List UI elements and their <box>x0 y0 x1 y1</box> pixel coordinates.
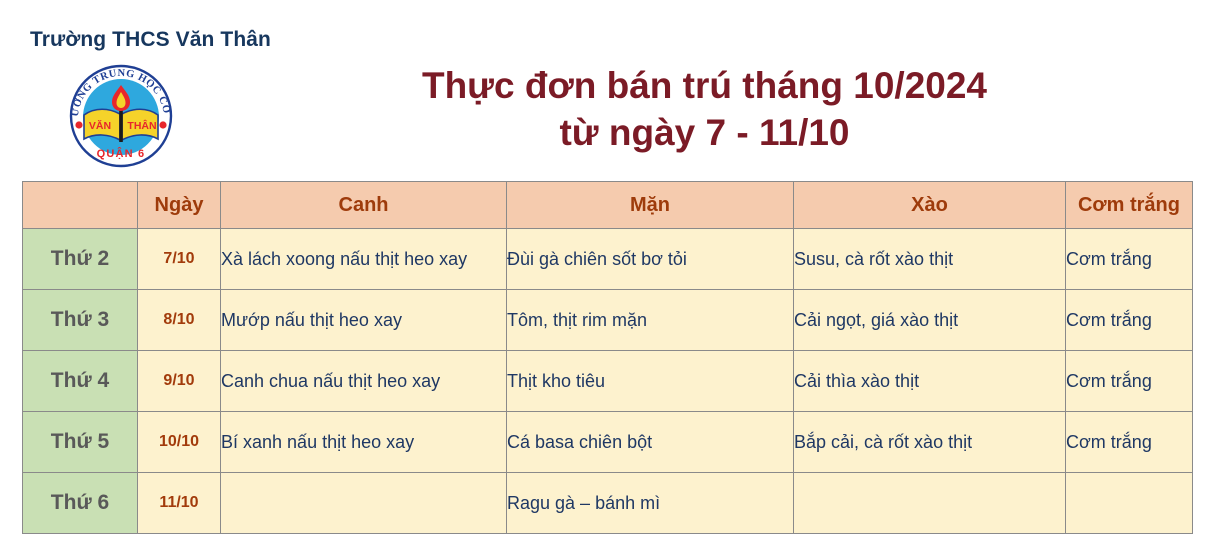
dish-com: Cơm trắng <box>1066 412 1193 473</box>
table-row: Thứ 5 10/10 Bí xanh nấu thịt heo xay Cá … <box>23 412 1193 473</box>
day-label: Thứ 2 <box>23 229 138 290</box>
svg-text:VĂN: VĂN <box>89 119 111 132</box>
day-label: Thứ 5 <box>23 412 138 473</box>
date-label: 10/10 <box>138 412 221 473</box>
dish-canh: Mướp nấu thịt heo xay <box>221 290 507 351</box>
title-line-2: từ ngày 7 - 11/10 <box>190 109 1219 156</box>
dish-man: Cá basa chiên bột <box>507 412 794 473</box>
dish-com: Cơm trắng <box>1066 290 1193 351</box>
school-logo-icon: TRƯỜNG TRUNG HỌC CƠ SỞ VĂN THÂN QUẬN 6 <box>62 57 180 175</box>
page-title: Thực đơn bán trú tháng 10/2024 từ ngày 7… <box>190 62 1219 157</box>
menu-table: Ngày Canh Mặn Xào Cơm trắng Thứ 2 7/10 X… <box>22 181 1193 534</box>
table-row: Thứ 3 8/10 Mướp nấu thịt heo xay Tôm, th… <box>23 290 1193 351</box>
dish-man: Tôm, thịt rim mặn <box>507 290 794 351</box>
dish-canh: Bí xanh nấu thịt heo xay <box>221 412 507 473</box>
menu-table-container: Ngày Canh Mặn Xào Cơm trắng Thứ 2 7/10 X… <box>22 181 1192 534</box>
school-name: Trường THCS Văn Thân <box>30 28 271 52</box>
day-label: Thứ 4 <box>23 351 138 412</box>
dish-man: Ragu gà – bánh mì <box>507 473 794 534</box>
svg-text:QUẬN 6: QUẬN 6 <box>97 147 146 160</box>
dish-com: Cơm trắng <box>1066 229 1193 290</box>
dish-xao: Bắp cải, cà rốt xào thịt <box>794 412 1066 473</box>
date-label: 8/10 <box>138 290 221 351</box>
dish-man: Thịt kho tiêu <box>507 351 794 412</box>
table-header-row: Ngày Canh Mặn Xào Cơm trắng <box>23 182 1193 229</box>
dish-com <box>1066 473 1193 534</box>
svg-text:THÂN: THÂN <box>127 119 156 132</box>
dish-canh: Canh chua nấu thịt heo xay <box>221 351 507 412</box>
dish-com: Cơm trắng <box>1066 351 1193 412</box>
day-label: Thứ 3 <box>23 290 138 351</box>
column-header-canh: Canh <box>221 182 507 229</box>
dish-xao: Cải thìa xào thịt <box>794 351 1066 412</box>
column-header-ngay: Ngày <box>138 182 221 229</box>
dish-man: Đùi gà chiên sốt bơ tỏi <box>507 229 794 290</box>
column-header-xao: Xào <box>794 182 1066 229</box>
day-label: Thứ 6 <box>23 473 138 534</box>
column-header-com-trang: Cơm trắng <box>1066 182 1193 229</box>
table-row: Thứ 4 9/10 Canh chua nấu thịt heo xay Th… <box>23 351 1193 412</box>
table-row: Thứ 6 11/10 Ragu gà – bánh mì <box>23 473 1193 534</box>
column-header-man: Mặn <box>507 182 794 229</box>
dish-canh: Xà lách xoong nấu thịt heo xay <box>221 229 507 290</box>
table-row: Thứ 2 7/10 Xà lách xoong nấu thịt heo xa… <box>23 229 1193 290</box>
dish-xao: Susu, cà rốt xào thịt <box>794 229 1066 290</box>
school-logo: TRƯỜNG TRUNG HỌC CƠ SỞ VĂN THÂN QUẬN 6 <box>62 57 180 175</box>
date-label: 7/10 <box>138 229 221 290</box>
page-header: Trường THCS Văn Thân TRƯỜNG TRUNG HỌC CƠ… <box>0 0 1219 175</box>
dish-xao <box>794 473 1066 534</box>
column-header-blank <box>23 182 138 229</box>
date-label: 11/10 <box>138 473 221 534</box>
title-line-1: Thực đơn bán trú tháng 10/2024 <box>190 62 1219 109</box>
date-label: 9/10 <box>138 351 221 412</box>
dish-canh <box>221 473 507 534</box>
dish-xao: Cải ngọt, giá xào thịt <box>794 290 1066 351</box>
